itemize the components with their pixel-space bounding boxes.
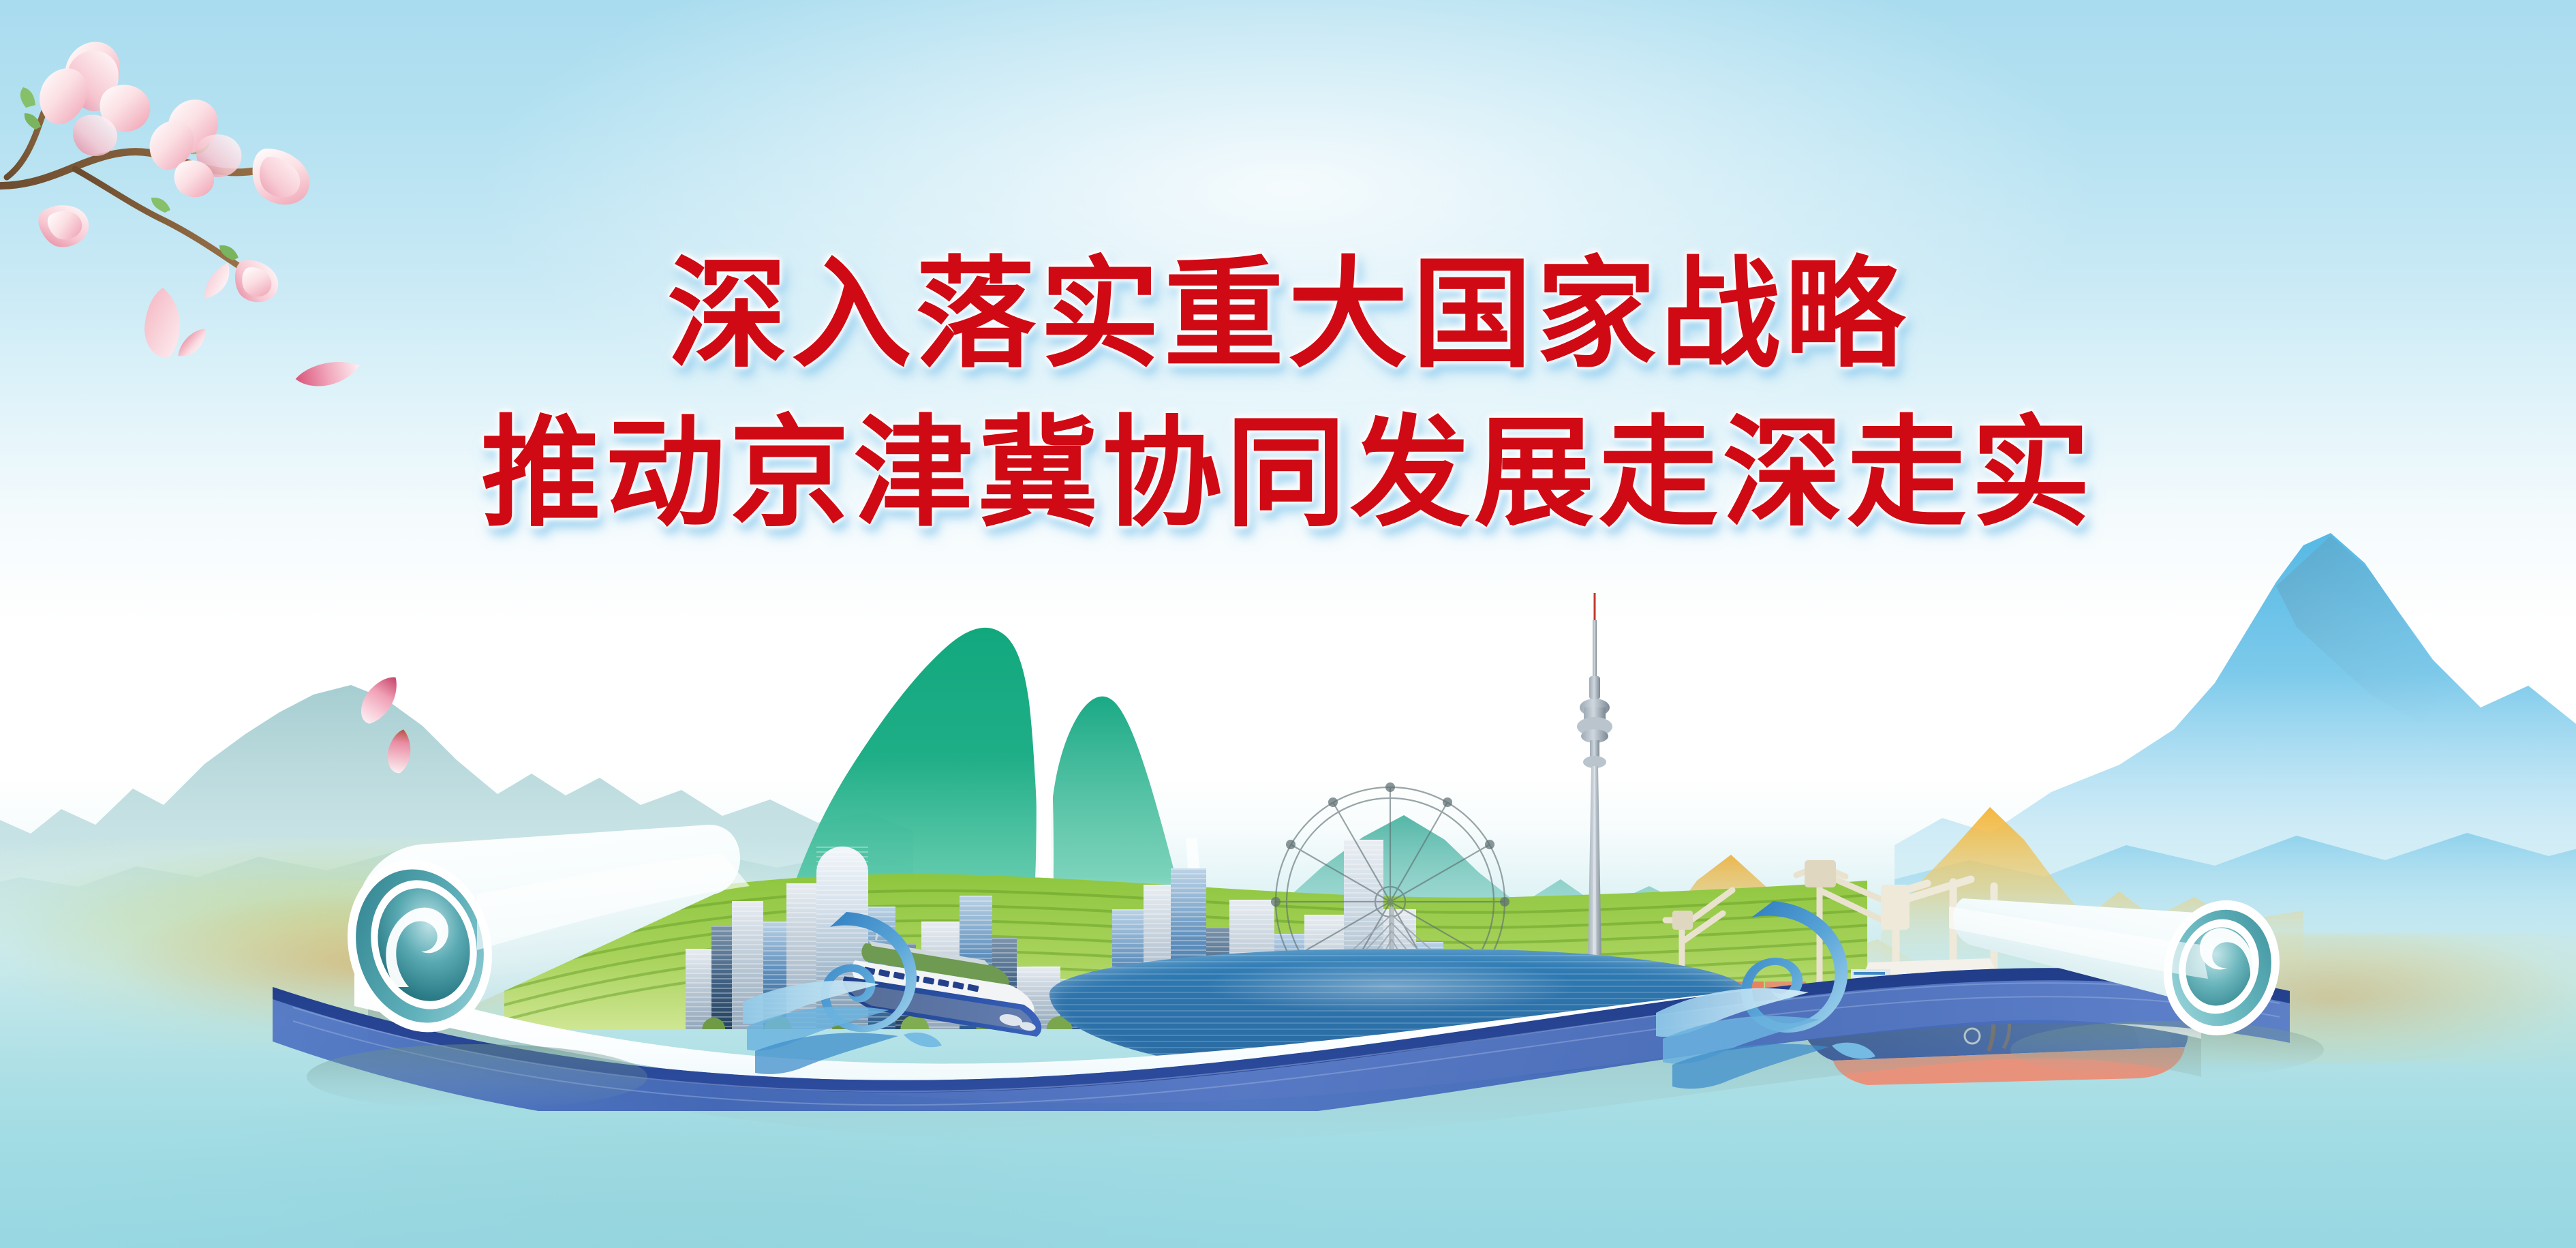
paper-scroll-roll-left <box>273 804 750 1118</box>
wave-swirl-right <box>1649 893 1922 1097</box>
banner-root: 深入落实重大国家战略 推动京津冀协同发展走深走实 <box>0 0 2576 1248</box>
banner-title: 深入落实重大国家战略 推动京津冀协同发展走深走实 <box>0 242 2576 547</box>
scroll-scene <box>0 600 2576 1159</box>
wave-swirl-left <box>743 900 988 1084</box>
paper-scroll-roll-right <box>1949 825 2372 1097</box>
title-line-2: 推动京津冀协同发展走深走实 <box>0 401 2576 547</box>
title-line-1: 深入落实重大国家战略 <box>0 242 2576 389</box>
